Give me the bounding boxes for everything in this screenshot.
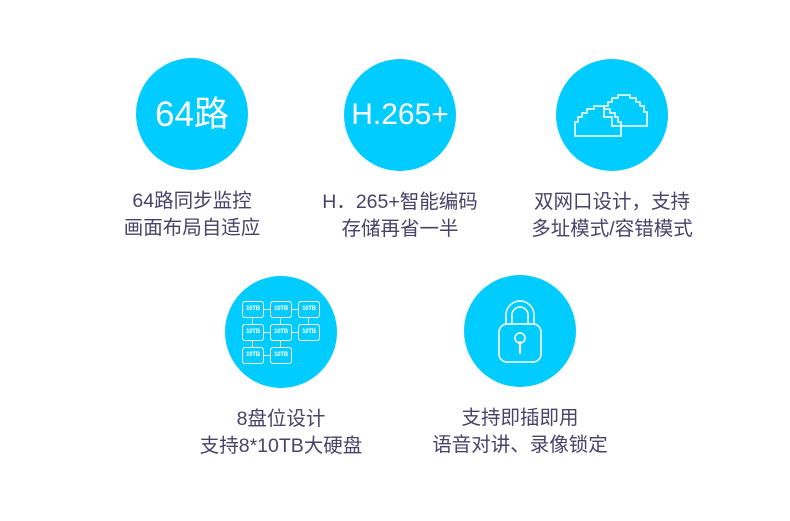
badge-dual-network [556, 59, 668, 171]
caption-line-2: 多址模式/容错模式 [531, 216, 692, 243]
disk-cell: 10TB [270, 301, 292, 318]
caption-channels: 64路同步监控 画面布局自适应 [124, 188, 261, 242]
caption-line-1: 64路同步监控 [124, 188, 261, 215]
disk-cell: 10TB [298, 324, 320, 341]
disk-cell: 10TB [242, 301, 264, 318]
badge-label-h265plus: H.265+ [351, 100, 449, 130]
padlock-icon [489, 295, 551, 367]
feature-card-encoding: H.265+ H．265+智能编码 存储再省一半 [285, 59, 515, 243]
feature-poster: 64路 64路同步监控 画面布局自适应 H.265+ H．265+智能编码 存储… [0, 0, 790, 521]
disk-array-icon: 10TB 10TB 10TB 10TB 10TB 10TB 10TB 10TB [242, 301, 320, 363]
caption-line-2: 支持8*10TB大硬盘 [200, 433, 363, 460]
badge-disk-bays: 10TB 10TB 10TB 10TB 10TB 10TB 10TB 10TB [225, 276, 337, 388]
caption-line-1: H．265+智能编码 [322, 189, 478, 216]
disk-cell: 10TB [298, 301, 320, 318]
disk-cell: 10TB [242, 324, 264, 341]
disk-cell: 10TB [270, 324, 292, 341]
dual-network-cloud-icon [570, 84, 654, 146]
caption-line-1: 双网口设计，支持 [531, 189, 692, 216]
caption-encoding: H．265+智能编码 存储再省一半 [322, 189, 478, 243]
feature-card-channels: 64路 64路同步监控 画面布局自适应 [77, 58, 307, 242]
badge-plug-and-play [464, 275, 576, 387]
feature-card-dual-network: 双网口设计，支持 多址模式/容错模式 [497, 59, 727, 243]
badge-encoding: H.265+ [344, 59, 456, 171]
feature-card-plug-and-play: 支持即插即用 语音对讲、录像锁定 [405, 275, 635, 459]
caption-dual-network: 双网口设计，支持 多址模式/容错模式 [531, 189, 692, 243]
caption-line-1: 8盘位设计 [200, 406, 363, 433]
caption-disk-bays: 8盘位设计 支持8*10TB大硬盘 [200, 406, 363, 460]
disk-cell: 10TB [242, 347, 264, 364]
caption-line-1: 支持即插即用 [432, 405, 608, 432]
caption-line-2: 存储再省一半 [322, 216, 478, 243]
disk-cell: 10TB [270, 347, 292, 364]
caption-line-2: 语音对讲、录像锁定 [432, 432, 608, 459]
badge-channels: 64路 [136, 58, 248, 170]
caption-line-2: 画面布局自适应 [124, 215, 261, 242]
caption-plug-and-play: 支持即插即用 语音对讲、录像锁定 [432, 405, 608, 459]
feature-card-disk-bays: 10TB 10TB 10TB 10TB 10TB 10TB 10TB 10TB … [166, 276, 396, 460]
badge-label-64-channel: 64路 [155, 97, 229, 132]
